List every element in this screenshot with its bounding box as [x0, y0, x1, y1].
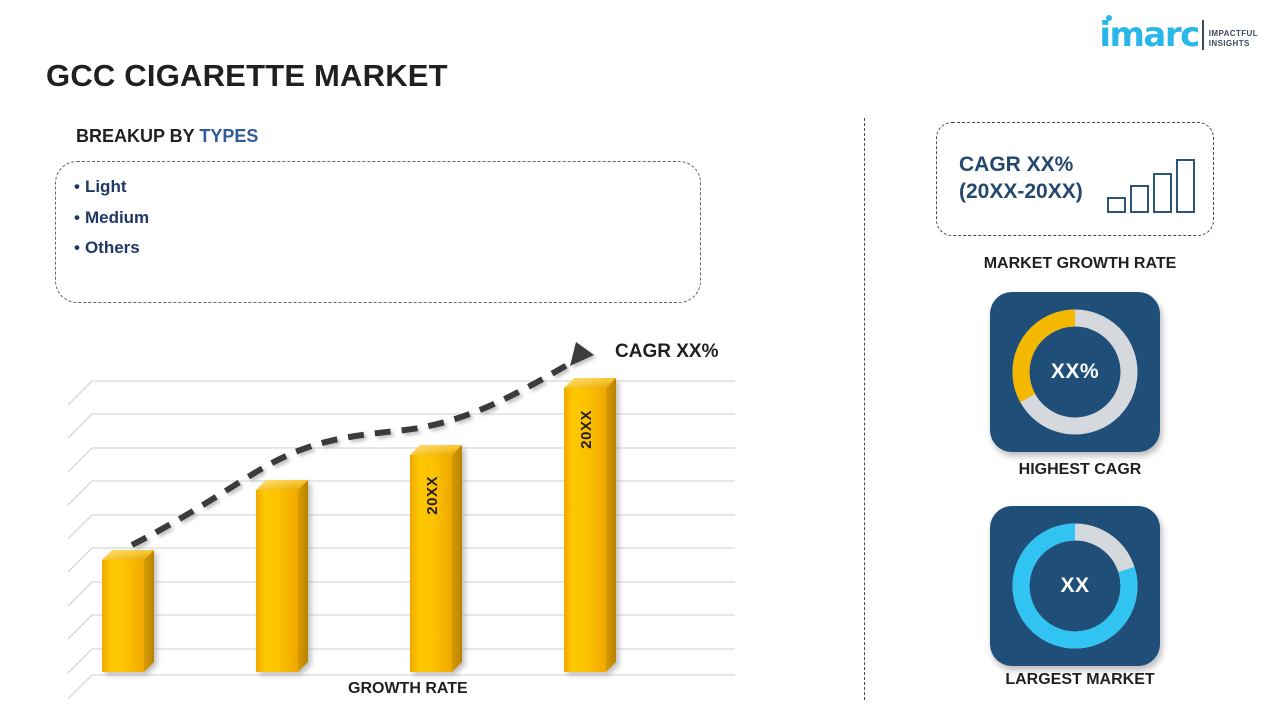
types-box: [55, 161, 701, 303]
chart-axis-label: GROWTH RATE: [348, 680, 468, 698]
bar-2: [256, 480, 308, 672]
market-growth-rate-text: CAGR XX% (20XX-20XX): [959, 152, 1083, 206]
bar-chart-svg: [60, 330, 760, 700]
cagr-arrow-label: CAGR XX%: [615, 341, 718, 363]
right-panel: CAGR XX% (20XX-20XX) MARKET GROWTH RATE …: [880, 0, 1280, 720]
bar-1: [102, 550, 154, 672]
largest-market-caption: LARGEST MARKET: [880, 671, 1280, 689]
types-list: •Light •Medium •Others: [74, 172, 149, 264]
bullet-icon: •: [74, 208, 80, 227]
page-title: GCC CIGARETTE MARKET: [46, 58, 448, 94]
highest-cagr-value: XX%: [1051, 360, 1099, 384]
bar-label-3: 20XX: [424, 476, 441, 515]
bullet-icon: •: [74, 177, 80, 196]
list-item: •Medium: [74, 203, 149, 234]
bullet-icon: •: [74, 238, 80, 257]
bar-label-4: 20XX: [578, 410, 595, 449]
infographic-slide: imarc IMPACTFUL INSIGHTS GCC CIGARETTE M…: [0, 0, 1280, 720]
market-growth-rate-caption: MARKET GROWTH RATE: [880, 255, 1280, 273]
list-item-label: Light: [85, 177, 127, 196]
cagr-period: (20XX-20XX): [959, 179, 1083, 206]
list-item: •Light: [74, 172, 149, 203]
breakup-heading-prefix: BREAKUP BY: [76, 126, 199, 146]
breakup-heading: BREAKUP BY TYPES: [76, 126, 258, 147]
list-item-label: Medium: [85, 208, 149, 227]
list-item: •Others: [74, 233, 149, 264]
growth-bar-chart: 20XX 20XX: [60, 330, 760, 700]
highest-cagr-caption: HIGHEST CAGR: [880, 461, 1280, 479]
market-growth-rate-card: CAGR XX% (20XX-20XX): [936, 122, 1214, 236]
cagr-value: CAGR XX%: [959, 152, 1083, 179]
breakup-heading-accent: TYPES: [199, 126, 258, 146]
highest-cagr-tile: XX%: [990, 292, 1160, 452]
bar-chart-icon: [1107, 159, 1195, 213]
panel-divider: [864, 118, 865, 700]
list-item-label: Others: [85, 238, 140, 257]
largest-market-tile: XX: [990, 506, 1160, 666]
largest-market-value: XX: [1060, 574, 1089, 598]
